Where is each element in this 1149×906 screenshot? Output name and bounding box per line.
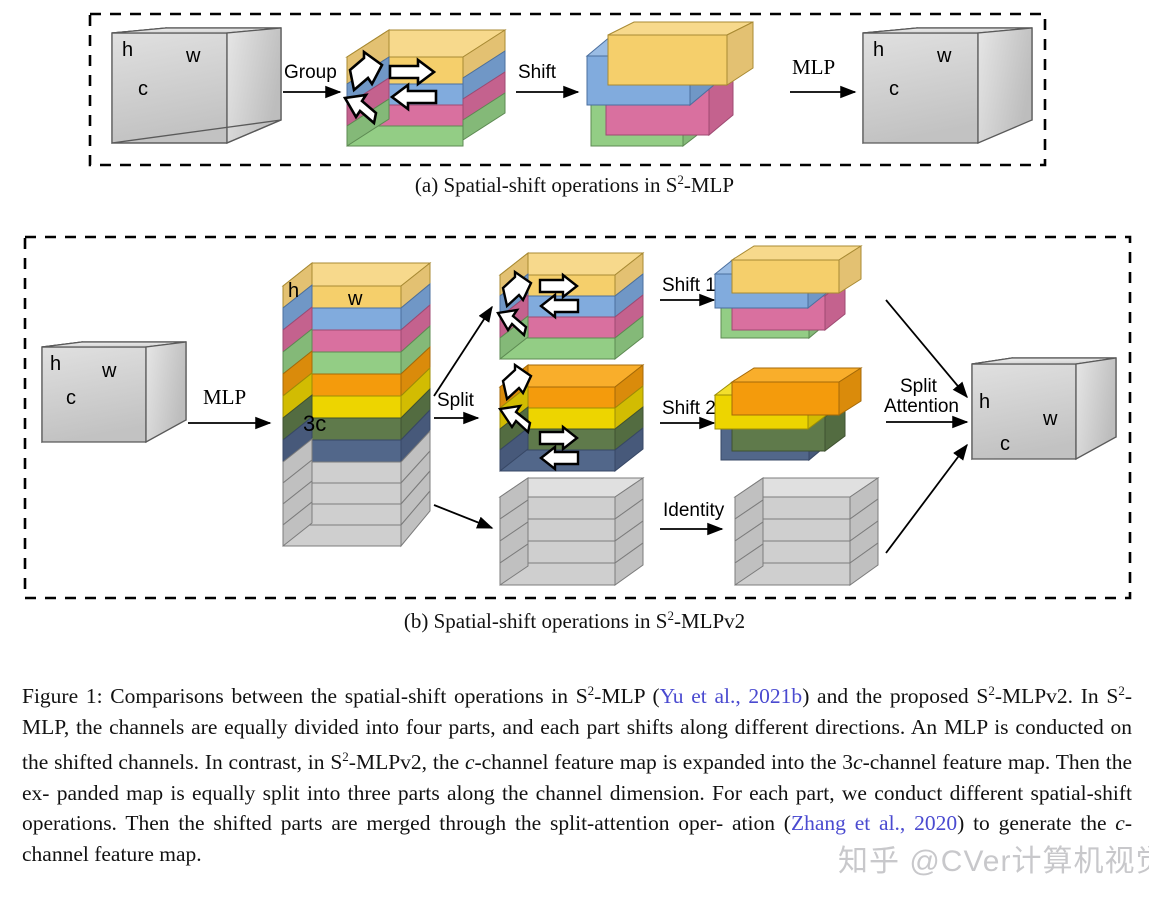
panel-b-caption: (b) Spatial-shift operations in S2-MLPv2 [0,608,1149,634]
caption-line2-a: proposed S [890,684,989,708]
panel-b-stack-label-w: w [347,288,363,310]
panel-a-caption-prefix: (a) Spatial-shift operations in S [415,173,677,197]
panel-a-output-label-c: c [889,78,899,100]
panel-a-output-label-h: h [873,39,884,61]
panel-a-input-label-c: c [138,78,148,100]
panel-b-label-mlp: MLP [203,385,246,409]
caption-line1-b: -MLP ( [594,684,659,708]
caption-line7-ital: c [1115,811,1125,835]
panel-a-grouped-block [347,30,505,146]
caption-line7-b: ) to generate the [957,811,1115,835]
panel-b-caption-prefix: (b) Spatial-shift operations in S [404,609,668,633]
caption-line1-c: ) and the [802,684,882,708]
panel-b-output-label-c: c [1000,433,1010,455]
panel-b-output-label-w: w [1042,408,1058,430]
caption-line7-a: ation ( [732,811,791,835]
panel-a-output-label-w: w [936,45,952,67]
panel-b-identity-block [735,478,878,585]
panel-b-shifted-part2 [715,368,861,460]
panel-b-caption-suffix: -MLPv2 [674,609,745,633]
panel-b-stack-label-3c: 3c [303,411,326,436]
panel-b-input-label-c: c [66,387,76,409]
citation-yu[interactable]: Yu et al., 2021b [660,684,803,708]
panel-b-shifted-part1 [715,246,861,338]
panel-b-part3-block [500,478,643,585]
panel-a-caption-suffix: -MLP [684,173,734,197]
panel-a-label-group: Group [284,62,337,83]
panel-b-label-identity: Identity [663,500,725,521]
panel-b-input-label-h: h [50,353,61,375]
panel-b-input-cube [42,342,186,442]
caption-line2-b: -MLPv2. In S [995,684,1119,708]
panel-b-label-split: Split [437,390,475,411]
figure-caption: Figure 1: Comparisons between the spatia… [22,676,1132,869]
caption-line4-a: S [330,750,342,774]
panel-b-label-shift2: Shift 2 [662,398,716,419]
figure-root: h w c Group [0,0,1149,906]
panel-a-input-label-h: h [122,39,133,61]
panel-a-label-mlp: MLP [792,55,835,79]
panel-b-arrow-split-top [434,307,492,396]
panel-b-label-split-attention-line2: Attention [884,396,959,417]
panel-b-input-label-w: w [101,360,117,382]
figure-diagram: h w c Group [0,0,1149,660]
panel-b-stack-label-h: h [288,280,299,302]
caption-line4-c: -channel feature map is expanded into th… [474,750,853,774]
caption-line4-b: -MLPv2, the [349,750,465,774]
panel-b-label-shift1: Shift 1 [662,275,716,296]
caption-line1-a: Figure 1: Comparisons between the spatia… [22,684,588,708]
caption-line5: panded map is equally split into three p… [57,781,943,805]
panel-a-label-shift: Shift [518,62,557,83]
panel-a-shifted-slabs [587,22,753,146]
panel-b-output-label-h: h [979,391,990,413]
panel-a-caption: (a) Spatial-shift operations in S2-MLP [0,172,1149,198]
citation-zhang[interactable]: Zhang et al., 2020 [791,811,957,835]
panel-a-input-label-w: w [185,45,201,67]
panel-b-arrow-merge-bottom [886,445,967,553]
panel-b-arrow-split-bottom [434,505,492,528]
panel-b-label-split-attention-line1: Split [900,376,938,397]
caption-line4-ital2: c [853,750,863,774]
